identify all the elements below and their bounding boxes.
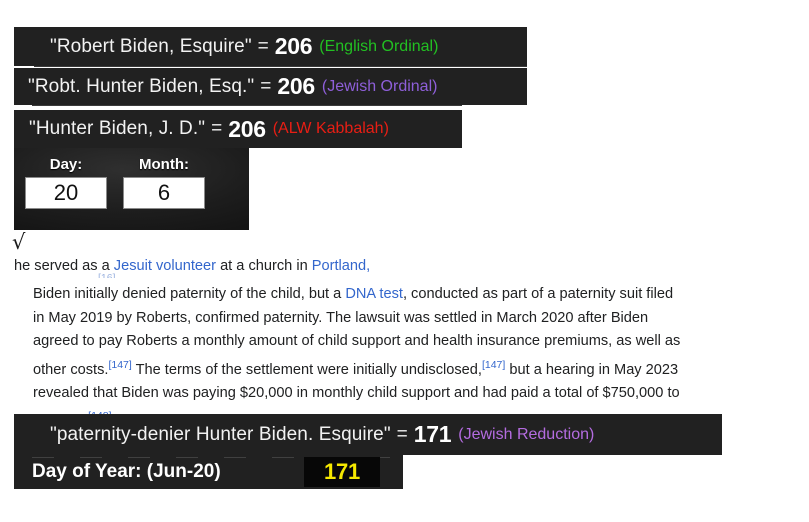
gematria-bar-english-ordinal[interactable]: "Robert Biden, Esquire" = 206 (English O… [14,27,527,66]
link-jesuit-volunteer[interactable]: Jesuit volunteer [114,258,216,274]
cipher-name: (ALW Kabbalah) [266,120,389,138]
reference-147b[interactable]: [147] [482,359,505,371]
paragraph-part-1: Biden initially denied paternity of the … [33,286,345,302]
gematria-bar-jewish-ordinal[interactable]: "Robt. Hunter Biden, Esq." = 206 (Jewish… [14,68,527,105]
gematria-bar-alw-kabbalah[interactable]: "Hunter Biden, J. D." = 206 (ALW Kabbala… [14,110,462,148]
intro-text-middle: at a church in [216,258,312,274]
cipher-name: (English Ordinal) [312,38,438,56]
gematria-value: 206 [228,116,265,143]
paragraph-part-3: The terms of the settlement were initial… [132,361,482,377]
day-of-year-value: 171 [324,459,360,485]
cipher-name: (Jewish Ordinal) [315,78,438,96]
gematria-phrase: "Robert Biden, Esquire" [50,36,252,58]
day-field-group: Day: [25,156,107,209]
date-input-panel: Day: Month: [14,148,249,230]
equals-sign: = [254,76,277,98]
gematria-phrase: "Robt. Hunter Biden, Esq." [28,76,254,98]
equals-sign: = [252,36,275,58]
day-input[interactable] [25,177,107,209]
intro-text-before: he served as a [14,258,114,274]
month-field-group: Month: [123,156,205,209]
gematria-value: 206 [275,33,312,60]
bar-separator [34,66,527,67]
article-paragraph: Biden initially denied paternity of the … [33,283,688,434]
month-input[interactable] [123,177,205,209]
link-dna-test[interactable]: DNA test [345,286,403,302]
article-intro-line: he served as a Jesuit volunteer at a chu… [14,255,514,279]
day-of-year-value-box: 171 [304,457,380,487]
cipher-name: (Jewish Reduction) [451,426,594,444]
equals-sign: = [205,118,228,140]
radical-sign-icon: √ [12,232,25,253]
gematria-value: 171 [414,421,451,448]
link-portland[interactable]: Portland, [312,258,370,274]
month-label: Month: [123,156,205,173]
gematria-phrase: "paternity-denier Hunter Biden. Esquire" [50,424,391,446]
day-of-year-label: Day of Year: (Jun-20) [32,461,221,483]
reference-147a[interactable]: [147] [108,359,131,371]
gematria-bar-jewish-reduction[interactable]: "paternity-denier Hunter Biden. Esquire"… [14,414,722,455]
gematria-value: 206 [277,73,314,100]
day-label: Day: [25,156,107,173]
gematria-phrase: "Hunter Biden, J. D." [29,118,205,140]
bar-separator [32,105,462,106]
equals-sign: = [391,424,414,446]
